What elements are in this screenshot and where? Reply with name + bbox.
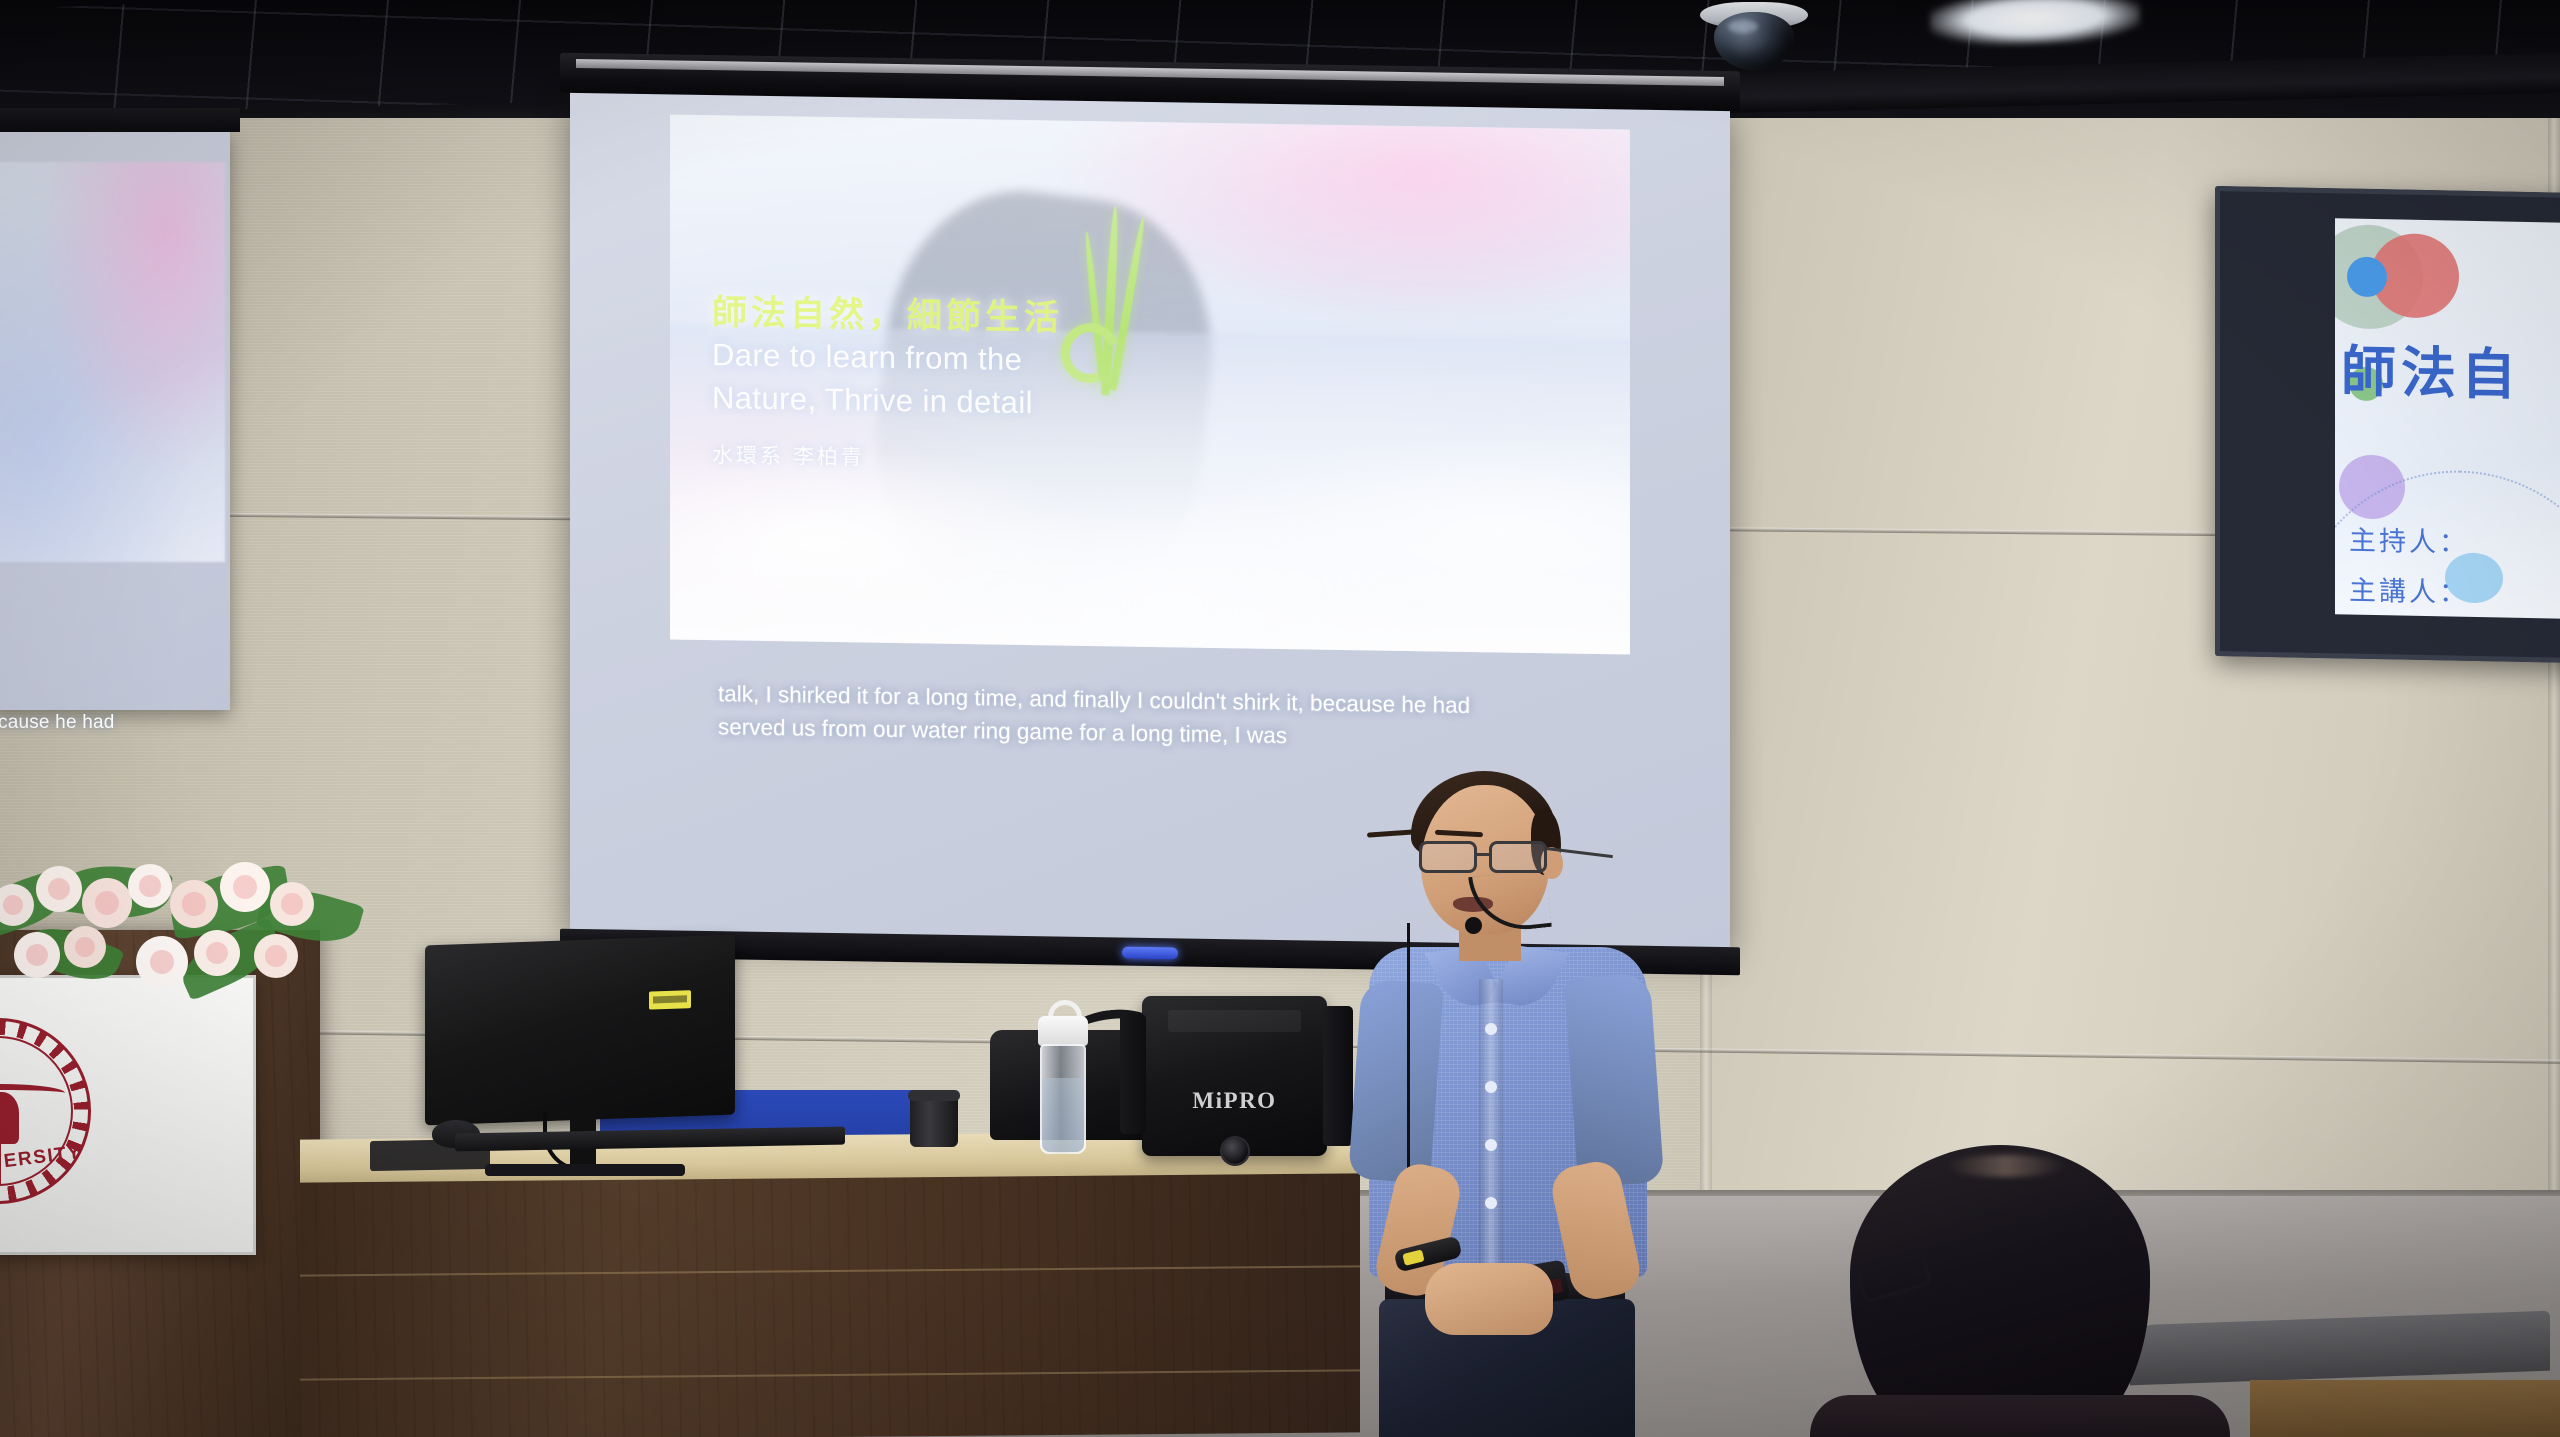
left-screen-housing: [0, 108, 240, 132]
flower-arrangement: [0, 840, 370, 1000]
dome-security-camera-icon: [1700, 2, 1808, 72]
computer-monitor: [425, 940, 735, 1120]
mipro-speaker: MiPRO: [1142, 996, 1327, 1156]
presentation-slide: 師法自然，細節生活 Dare to learn from the Nature,…: [670, 114, 1630, 654]
water-bottle: [1034, 1000, 1092, 1155]
right-display-speaker-line: 主講人：: [2349, 569, 2469, 610]
lecture-hall-scene: cause he had 師法自然，細節生活 Dare to learn fro…: [0, 0, 2560, 1437]
university-seal-icon: NG UNIVERSITY: [0, 1006, 103, 1216]
monitor-sticker: [649, 990, 691, 1009]
audience-member: [1850, 1145, 2150, 1437]
travel-cup: [910, 1095, 958, 1147]
mipro-logo-text: MiPRO: [1142, 1088, 1327, 1114]
seat-row: [2250, 1380, 2560, 1437]
presenter: [1355, 765, 1685, 1437]
presenter-hands: [1425, 1263, 1553, 1335]
right-display-panel: 師法自 主持人： 主講人：: [2335, 218, 2560, 621]
slide-title-chinese: 師法自然，細節生活: [712, 293, 1312, 342]
presenter-right-sleeve: [1564, 972, 1664, 1187]
screen-logo-badge: [1122, 947, 1178, 960]
lectern-sign-board: NG UNIVERSITY: [0, 975, 256, 1255]
left-projection-screen: [0, 130, 230, 710]
left-screen-image: [0, 162, 225, 562]
right-display-title: 師法自: [2341, 326, 2521, 409]
right-wall-display: 師法自 主持人： 主講人：: [2215, 186, 2560, 664]
slide-title-english-line2: Nature, Thrive in detail: [712, 378, 1312, 427]
right-display-host-line: 主持人：: [2349, 519, 2469, 560]
projected-caption: talk, I shirked it for a long time, and …: [718, 678, 1578, 757]
ceiling-light: [1930, 0, 2140, 48]
speaker-knob[interactable]: [1222, 1138, 1248, 1164]
presenter-desk-front: [300, 1173, 1360, 1437]
slide-text-block: 師法自然，細節生活 Dare to learn from the Nature,…: [712, 293, 1312, 478]
slide-title-english-line1: Dare to learn from the: [712, 335, 1312, 384]
left-screen-caption: cause he had: [0, 712, 168, 734]
